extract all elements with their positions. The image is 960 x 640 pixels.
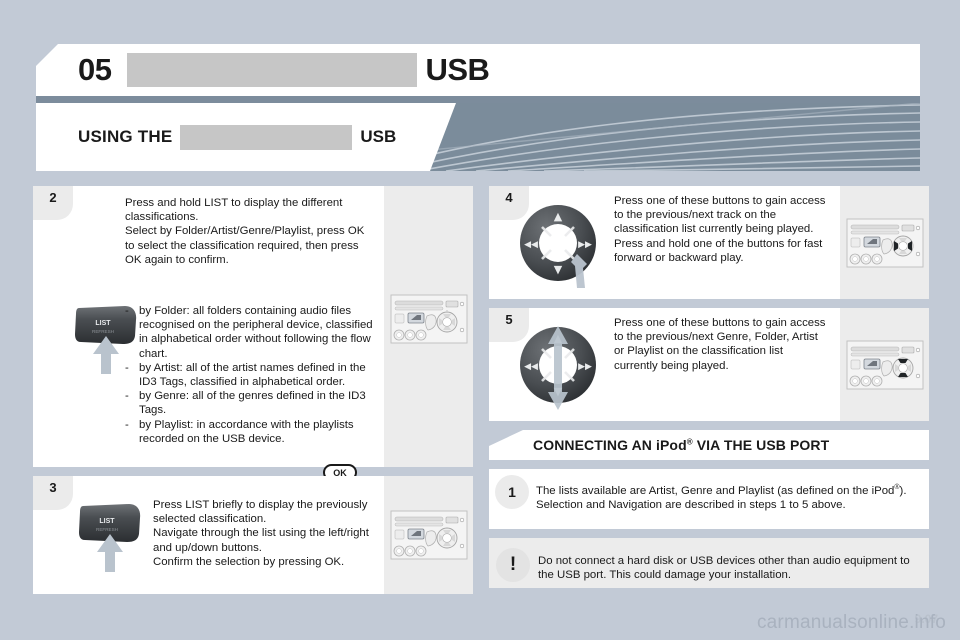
dpad-next-arrow: ▶▶ [578, 240, 592, 250]
step-2-radio-illustration: ^ [384, 186, 473, 467]
ipod-step-panel-1: 1 The lists available are Artist, Genre … [489, 469, 929, 529]
section-title-pre: CONNECTING AN iPod [533, 437, 687, 453]
step-5-body: 5 [489, 308, 840, 421]
step-3-body: 3 LIST REFRESH Press LIST [33, 476, 384, 594]
subtitle-prefix: USING THE [78, 127, 172, 147]
list-button-graphic-3[interactable]: LIST REFRESH [77, 494, 149, 579]
svg-text:REFRESH: REFRESH [92, 329, 114, 334]
chapter-header: 05 USB [36, 44, 920, 96]
section-title-post: VIA THE USB PORT [693, 437, 830, 453]
step-panel-3: 3 LIST REFRESH Press LIST [33, 476, 473, 594]
car-radio-icon: ^ [390, 294, 468, 344]
subtitle-redacted-block [180, 125, 352, 150]
chapter-redacted-block [127, 53, 417, 87]
warning-text: Do not connect a hard disk or USB device… [530, 538, 929, 598]
svg-text:REFRESH: REFRESH [96, 527, 118, 532]
ipod-line1-post: ). [900, 485, 907, 497]
step-2-intro-text: Press and hold LIST to display the diffe… [125, 196, 375, 267]
right-column: 4 [489, 186, 929, 588]
section-heading-plate: CONNECTING AN iPod® VIA THE USB PORT [489, 430, 929, 460]
bullet-text: by Genre: all of the genres defined in t… [139, 389, 373, 417]
step-number-badge-4: 4 [489, 186, 529, 220]
dpad-prev-arrow: ◀◀ [524, 362, 538, 372]
step-3-radio-illustration [384, 476, 473, 594]
svg-text:LIST: LIST [95, 320, 111, 327]
bullet-text: by Playlist: in accordance with the play… [139, 418, 373, 446]
warning-panel: ! Do not connect a hard disk or USB devi… [489, 538, 929, 588]
header-divider-rule [36, 96, 920, 103]
bullet-marker: - [125, 304, 139, 361]
step-panel-5: 5 [489, 308, 929, 421]
warning-icon: ! [496, 548, 530, 582]
bullet-marker: - [125, 361, 139, 389]
ipod-step-body: 1 The lists available are Artist, Genre … [489, 469, 929, 529]
dpad-down-arrow: ▼ [554, 263, 563, 276]
ipod-line2: Selection and Navigation are described i… [536, 498, 908, 512]
step-panel-2: 2 Press and hold LIST to display the dif… [33, 186, 473, 467]
step-2-body: 2 Press and hold LIST to display the dif… [33, 186, 384, 467]
section-title: CONNECTING AN iPod® VIA THE USB PORT [533, 437, 829, 453]
dpad-up-arrow: ▲ [554, 210, 563, 223]
chapter-title: USB [425, 52, 489, 88]
step-5-text: Press one of these buttons to gain acces… [614, 316, 829, 373]
car-radio-icon [390, 510, 468, 560]
step-5-radio-illustration [840, 308, 929, 421]
bullet-marker: - [125, 389, 139, 417]
list-button-icon[interactable]: LIST REFRESH [77, 494, 149, 574]
step-panel-4: 4 [489, 186, 929, 299]
step-4-radio-illustration [840, 186, 929, 299]
step-3-text: Press LIST briefly to display the previo… [153, 498, 383, 569]
step-4-text: Press one of these buttons to gain acces… [614, 194, 829, 265]
step-2-bullet-list: - by Folder: all folders containing audi… [125, 304, 373, 446]
ipod-step-text: The lists available are Artist, Genre an… [536, 481, 908, 512]
site-watermark: carmanualsonline.info [757, 612, 946, 634]
bullet-marker: - [125, 418, 139, 446]
dpad-next-arrow: ▶▶ [578, 362, 592, 372]
list-item: - by Genre: all of the genres defined in… [125, 389, 373, 417]
left-column: 2 Press and hold LIST to display the dif… [33, 186, 473, 603]
list-item: - by Artist: all of the artist names def… [125, 361, 373, 389]
list-item: - by Folder: all folders containing audi… [125, 304, 373, 361]
subtitle-suffix: USB [360, 127, 396, 147]
step-4-body: 4 [489, 186, 840, 299]
step-number-badge-2: 2 [33, 186, 73, 220]
bullet-text: by Artist: all of the artist names defin… [139, 361, 373, 389]
chapter-number: 05 [78, 52, 111, 88]
dpad-prev-arrow: ◀◀ [524, 240, 538, 250]
list-item: - by Playlist: in accordance with the pl… [125, 418, 373, 446]
bullet-text: by Folder: all folders containing audio … [139, 304, 373, 361]
svg-text:LIST: LIST [99, 518, 115, 525]
step-number-badge-ipod-1: 1 [495, 475, 529, 509]
step-number-badge-5: 5 [489, 308, 529, 342]
step-number-badge-3: 3 [33, 476, 73, 510]
car-radio-icon [846, 218, 924, 268]
ipod-line1-pre: The lists available are Artist, Genre an… [536, 485, 894, 497]
car-radio-icon [846, 340, 924, 390]
subtitle-plate: USING THE USB [36, 103, 456, 171]
